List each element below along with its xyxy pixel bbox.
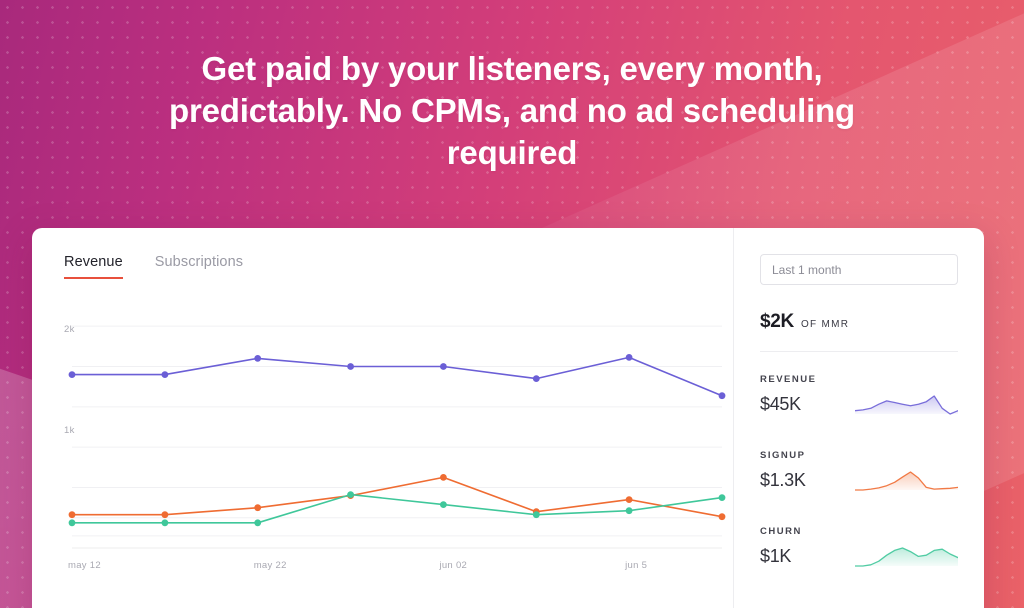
revenue-sparkline: [855, 384, 958, 420]
date-range-select[interactable]: Last 1 month: [760, 254, 958, 285]
hero-section: Get paid by your listeners, every month,…: [0, 0, 1024, 608]
mmr-value: $2K: [760, 311, 794, 333]
mmr-summary: $2K OF MMR: [760, 311, 958, 333]
x-axis-tick-1: may 22: [254, 560, 287, 571]
y-axis-tick-2k: 2k: [64, 324, 75, 335]
revenue-line-chart[interactable]: 2k 1k may 12 may 22 jun 02 jun 5: [64, 290, 736, 580]
metric-churn[interactable]: CHURN $1K: [760, 526, 958, 580]
page-title: Get paid by your listeners, every month,…: [0, 48, 1024, 174]
dashboard-card: Revenue Subscriptions 2k 1k may 12 may 2…: [32, 228, 984, 608]
metric-signup[interactable]: SIGNUP $1.3K: [760, 450, 958, 504]
date-range-value: Last 1 month: [772, 263, 841, 277]
dashboard-main-panel: Revenue Subscriptions 2k 1k may 12 may 2…: [32, 228, 733, 608]
dashboard-summary-panel: Last 1 month $2K OF MMR REVENUE $45K SIG…: [733, 228, 984, 608]
mmr-label: OF MMR: [801, 319, 849, 330]
summary-divider: [760, 351, 958, 352]
signup-sparkline: [855, 460, 958, 496]
tab-revenue[interactable]: Revenue: [64, 254, 123, 279]
x-axis-tick-0: may 12: [68, 560, 101, 571]
x-axis-tick-2: jun 02: [439, 560, 467, 571]
metric-revenue[interactable]: REVENUE $45K: [760, 374, 958, 428]
dashboard-tabs: Revenue Subscriptions: [64, 254, 733, 279]
chart-svg: [64, 290, 736, 580]
tab-subscriptions[interactable]: Subscriptions: [155, 254, 243, 277]
y-axis-tick-1k: 1k: [64, 425, 75, 436]
x-axis-tick-3: jun 5: [625, 560, 647, 571]
churn-sparkline: [855, 536, 958, 572]
